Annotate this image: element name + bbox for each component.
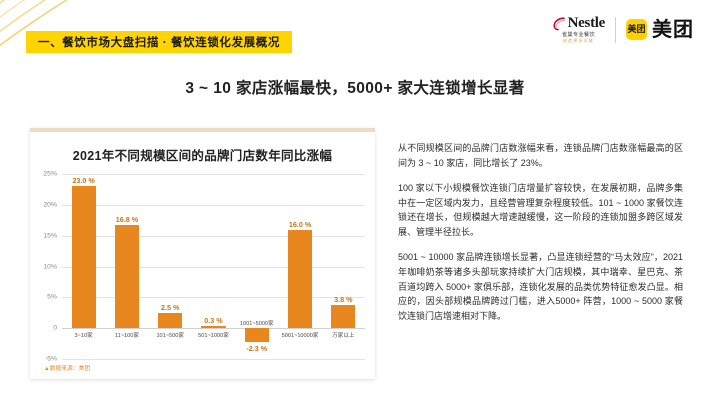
meituan-wordmark: 美团	[652, 20, 694, 40]
bar-column[interactable]: -2.3 %1001~5000家	[235, 174, 278, 359]
bar-column[interactable]: 3.8 %万家以上	[322, 174, 365, 359]
bar-value-label: 3.8 %	[322, 295, 365, 304]
bar-value-label: 16.8 %	[105, 215, 148, 224]
bar-value-label: -2.3 %	[235, 344, 278, 353]
bar[interactable]	[72, 186, 96, 328]
x-axis-tick-label: 1001~5000家	[231, 319, 283, 327]
grid-line	[62, 359, 365, 360]
y-axis-tick-label: -5%	[30, 356, 57, 363]
chart-source-note: ▲数据来源：美团	[44, 364, 90, 372]
bar[interactable]	[115, 225, 139, 329]
section-tag: 一、餐饮市场大盘扫描 · 餐饮连锁化发展概况	[26, 31, 292, 53]
y-axis-tick-label: 20%	[30, 201, 57, 208]
analysis-paragraph: 从不同规模区间的品牌门店数涨幅来看，连锁品牌门店数涨幅最高的区间为 3 ~ 10…	[398, 141, 683, 170]
page-title: 3 ~ 10 家店涨幅最快，5000+ 家大连锁增长显著	[0, 76, 710, 98]
chart-card: 2021年不同规模区间的品牌门店数年同比涨幅 25%20%15%10%5%0-5…	[30, 128, 375, 379]
bar-chart-plot: 25%20%15%10%5%0-5%23.0 %3~10家16.8 %11~10…	[30, 174, 375, 359]
bar-column[interactable]: 2.5 %101~500家	[149, 174, 192, 359]
meituan-badge-icon: 美团	[626, 19, 647, 40]
bar-column[interactable]: 23.0 %3~10家	[62, 174, 105, 359]
logo-divider	[615, 17, 616, 43]
analysis-text-column: 从不同规模区间的品牌门店数涨幅来看，连锁品牌门店数涨幅最高的区间为 3 ~ 10…	[398, 132, 683, 323]
meituan-logo: 美团 美团	[626, 19, 694, 40]
analysis-paragraph: 100 家以下小规模餐饮连锁门店增量扩容较快，在发展初期，品牌多集中在一定区域内…	[398, 181, 683, 239]
nestle-wordmark: Nestle	[568, 16, 605, 31]
y-axis-tick-label: 25%	[30, 171, 57, 178]
bar-value-label: 0.3 %	[192, 316, 235, 325]
bar-value-label: 23.0 %	[62, 176, 105, 185]
nestle-tagline: 创造更多可能	[563, 39, 594, 43]
analysis-paragraph: 5001 ~ 10000 家品牌连锁增长显著，凸显连锁经营的“马太效应”，202…	[398, 250, 683, 323]
bar[interactable]	[245, 328, 269, 342]
nestle-logo: Nestle 雀巢专业餐饮 创造更多可能	[552, 16, 605, 43]
y-axis-tick-label: 10%	[30, 263, 57, 270]
bar[interactable]	[331, 305, 355, 328]
bar[interactable]	[201, 326, 225, 328]
nestle-chinese-name: 雀巢专业餐饮	[562, 33, 595, 38]
meituan-badge-label: 美团	[627, 25, 645, 34]
bar-column[interactable]: 0.3 %501~1000家	[192, 174, 235, 359]
bar[interactable]	[288, 230, 312, 329]
y-axis-tick-label: 0	[30, 325, 57, 332]
bar-column[interactable]: 16.8 %11~100家	[105, 174, 148, 359]
chart-title: 2021年不同规模区间的品牌门店数年同比涨幅	[30, 145, 375, 164]
section-tag-label: 一、餐饮市场大盘扫描 · 餐饮连锁化发展概况	[38, 34, 280, 50]
x-axis-tick-label: 万家以上	[317, 331, 369, 339]
bar-value-label: 16.0 %	[278, 220, 321, 229]
bar-group: 23.0 %3~10家16.8 %11~100家2.5 %101~500家0.3…	[62, 174, 365, 359]
slide-root: 一、餐饮市场大盘扫描 · 餐饮连锁化发展概况 Nestle 雀巢专业餐饮 创造更…	[0, 0, 710, 401]
y-axis-tick-label: 15%	[30, 232, 57, 239]
logo-group: Nestle 雀巢专业餐饮 创造更多可能 美团 美团	[552, 16, 694, 43]
bar-column[interactable]: 16.0 %5001~10000家	[278, 174, 321, 359]
bar-value-label: 2.5 %	[149, 303, 192, 312]
bar[interactable]	[158, 313, 182, 328]
nestle-nest-icon	[552, 16, 567, 31]
x-axis-tick-label: 501~1000家	[188, 331, 240, 339]
y-axis-tick-label: 5%	[30, 294, 57, 301]
